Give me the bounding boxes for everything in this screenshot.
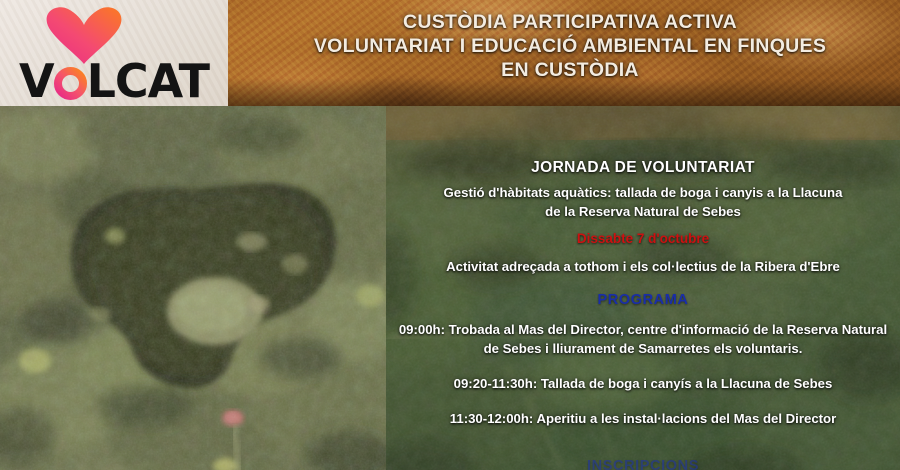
- event-date: Dissabte 7 d'octubre: [386, 231, 900, 246]
- schedule-list: 09:00h: Trobada al Mas del Director, cen…: [390, 320, 896, 444]
- event-subtitle: Gestió d'hàbitats aquàtics: tallada de b…: [390, 183, 896, 221]
- poster-image: CUSTÒDIA PARTICIPATIVA ACTIVA VOLUNTARIA…: [0, 0, 900, 470]
- schedule-item: 11:30-12:00h: Aperitiu a les instal·laci…: [390, 409, 896, 428]
- header-line-1: CUSTÒDIA PARTICIPATIVA ACTIVA: [240, 10, 900, 34]
- event-details-panel: JORNADA DE VOLUNTARIAT Gestió d'hàbitats…: [386, 106, 900, 470]
- jornada-heading: JORNADA DE VOLUNTARIAT: [386, 159, 900, 177]
- inscripcions-heading: INSCRIPCIONS: [386, 458, 900, 470]
- header-line-3: EN CUSTÒDIA: [240, 58, 900, 82]
- schedule-item: 09:20-11:30h: Tallada de boga i canyís a…: [390, 374, 896, 393]
- subtitle-line-2: de la Reserva Natural de Sebes: [390, 202, 896, 221]
- logo-letters-lcat: LCAT: [87, 54, 209, 106]
- programa-heading: PROGRAMA: [386, 292, 900, 308]
- subtitle-line-1: Gestió d'hàbitats aquàtics: tallada de b…: [390, 183, 896, 202]
- logo-letter-v: V: [19, 54, 54, 106]
- volcat-logo: V VOLCATLCAT: [0, 0, 228, 106]
- logo-o-ring-icon: VOLCAT: [54, 61, 87, 94]
- header-line-2: VOLUNTARIAT I EDUCACIÓ AMBIENTAL EN FINQ…: [240, 34, 900, 58]
- schedule-item: 09:00h: Trobada al Mas del Director, cen…: [390, 320, 896, 358]
- logo-wordmark: V VOLCATLCAT: [6, 58, 222, 104]
- aerial-lagoon-photo: [0, 106, 386, 470]
- event-audience: Activitat adreçada a tothom i els col·le…: [386, 259, 900, 274]
- page-title: CUSTÒDIA PARTICIPATIVA ACTIVA VOLUNTARIA…: [240, 10, 900, 82]
